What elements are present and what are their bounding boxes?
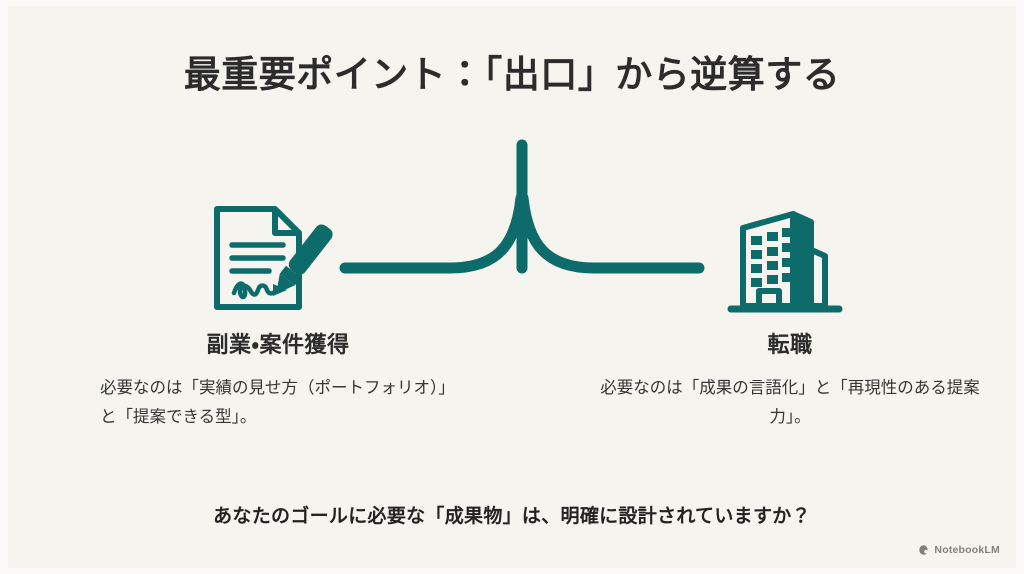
column-left-heading: 副業・案件獲得 — [78, 332, 478, 358]
closing-question-highlight: あなたのゴールに必要な「成果物」は、明確に設計されていますか？ — [207, 504, 817, 533]
closing-question-row: あなたのゴールに必要な「成果物」は、明確に設計されていますか？ — [8, 504, 1016, 533]
column-right-body: 必要なのは「成果の言語化」と「再現性のある提案力」。 — [600, 374, 980, 432]
signed-document-pen-icon — [203, 195, 333, 320]
document-pen-glyph — [203, 195, 333, 320]
branching-path-icon — [330, 124, 714, 284]
slide-canvas: 最重要ポイント：「出口」から逆算する — [0, 0, 1024, 574]
page-title: 最重要ポイント：「出口」から逆算する — [8, 52, 1016, 98]
column-right-heading: 転職 — [600, 332, 980, 358]
building-glyph — [721, 196, 851, 321]
column-left-body: 必要なのは「実績の見せ方（ポートフォリオ）」と「提案できる型」。 — [78, 374, 478, 432]
notebooklm-logo-icon — [918, 544, 930, 556]
column-right: 転職 必要なのは「成果の言語化」と「再現性のある提案力」。 — [600, 332, 980, 432]
footer-label: NotebookLM — [934, 544, 1000, 556]
footer-watermark: NotebookLM — [918, 544, 1000, 556]
column-left: 副業・案件獲得 必要なのは「実績の見せ方（ポートフォリオ）」と「提案できる型」。 — [78, 332, 478, 432]
branching-path-connector — [330, 124, 714, 284]
office-building-icon — [721, 196, 851, 321]
